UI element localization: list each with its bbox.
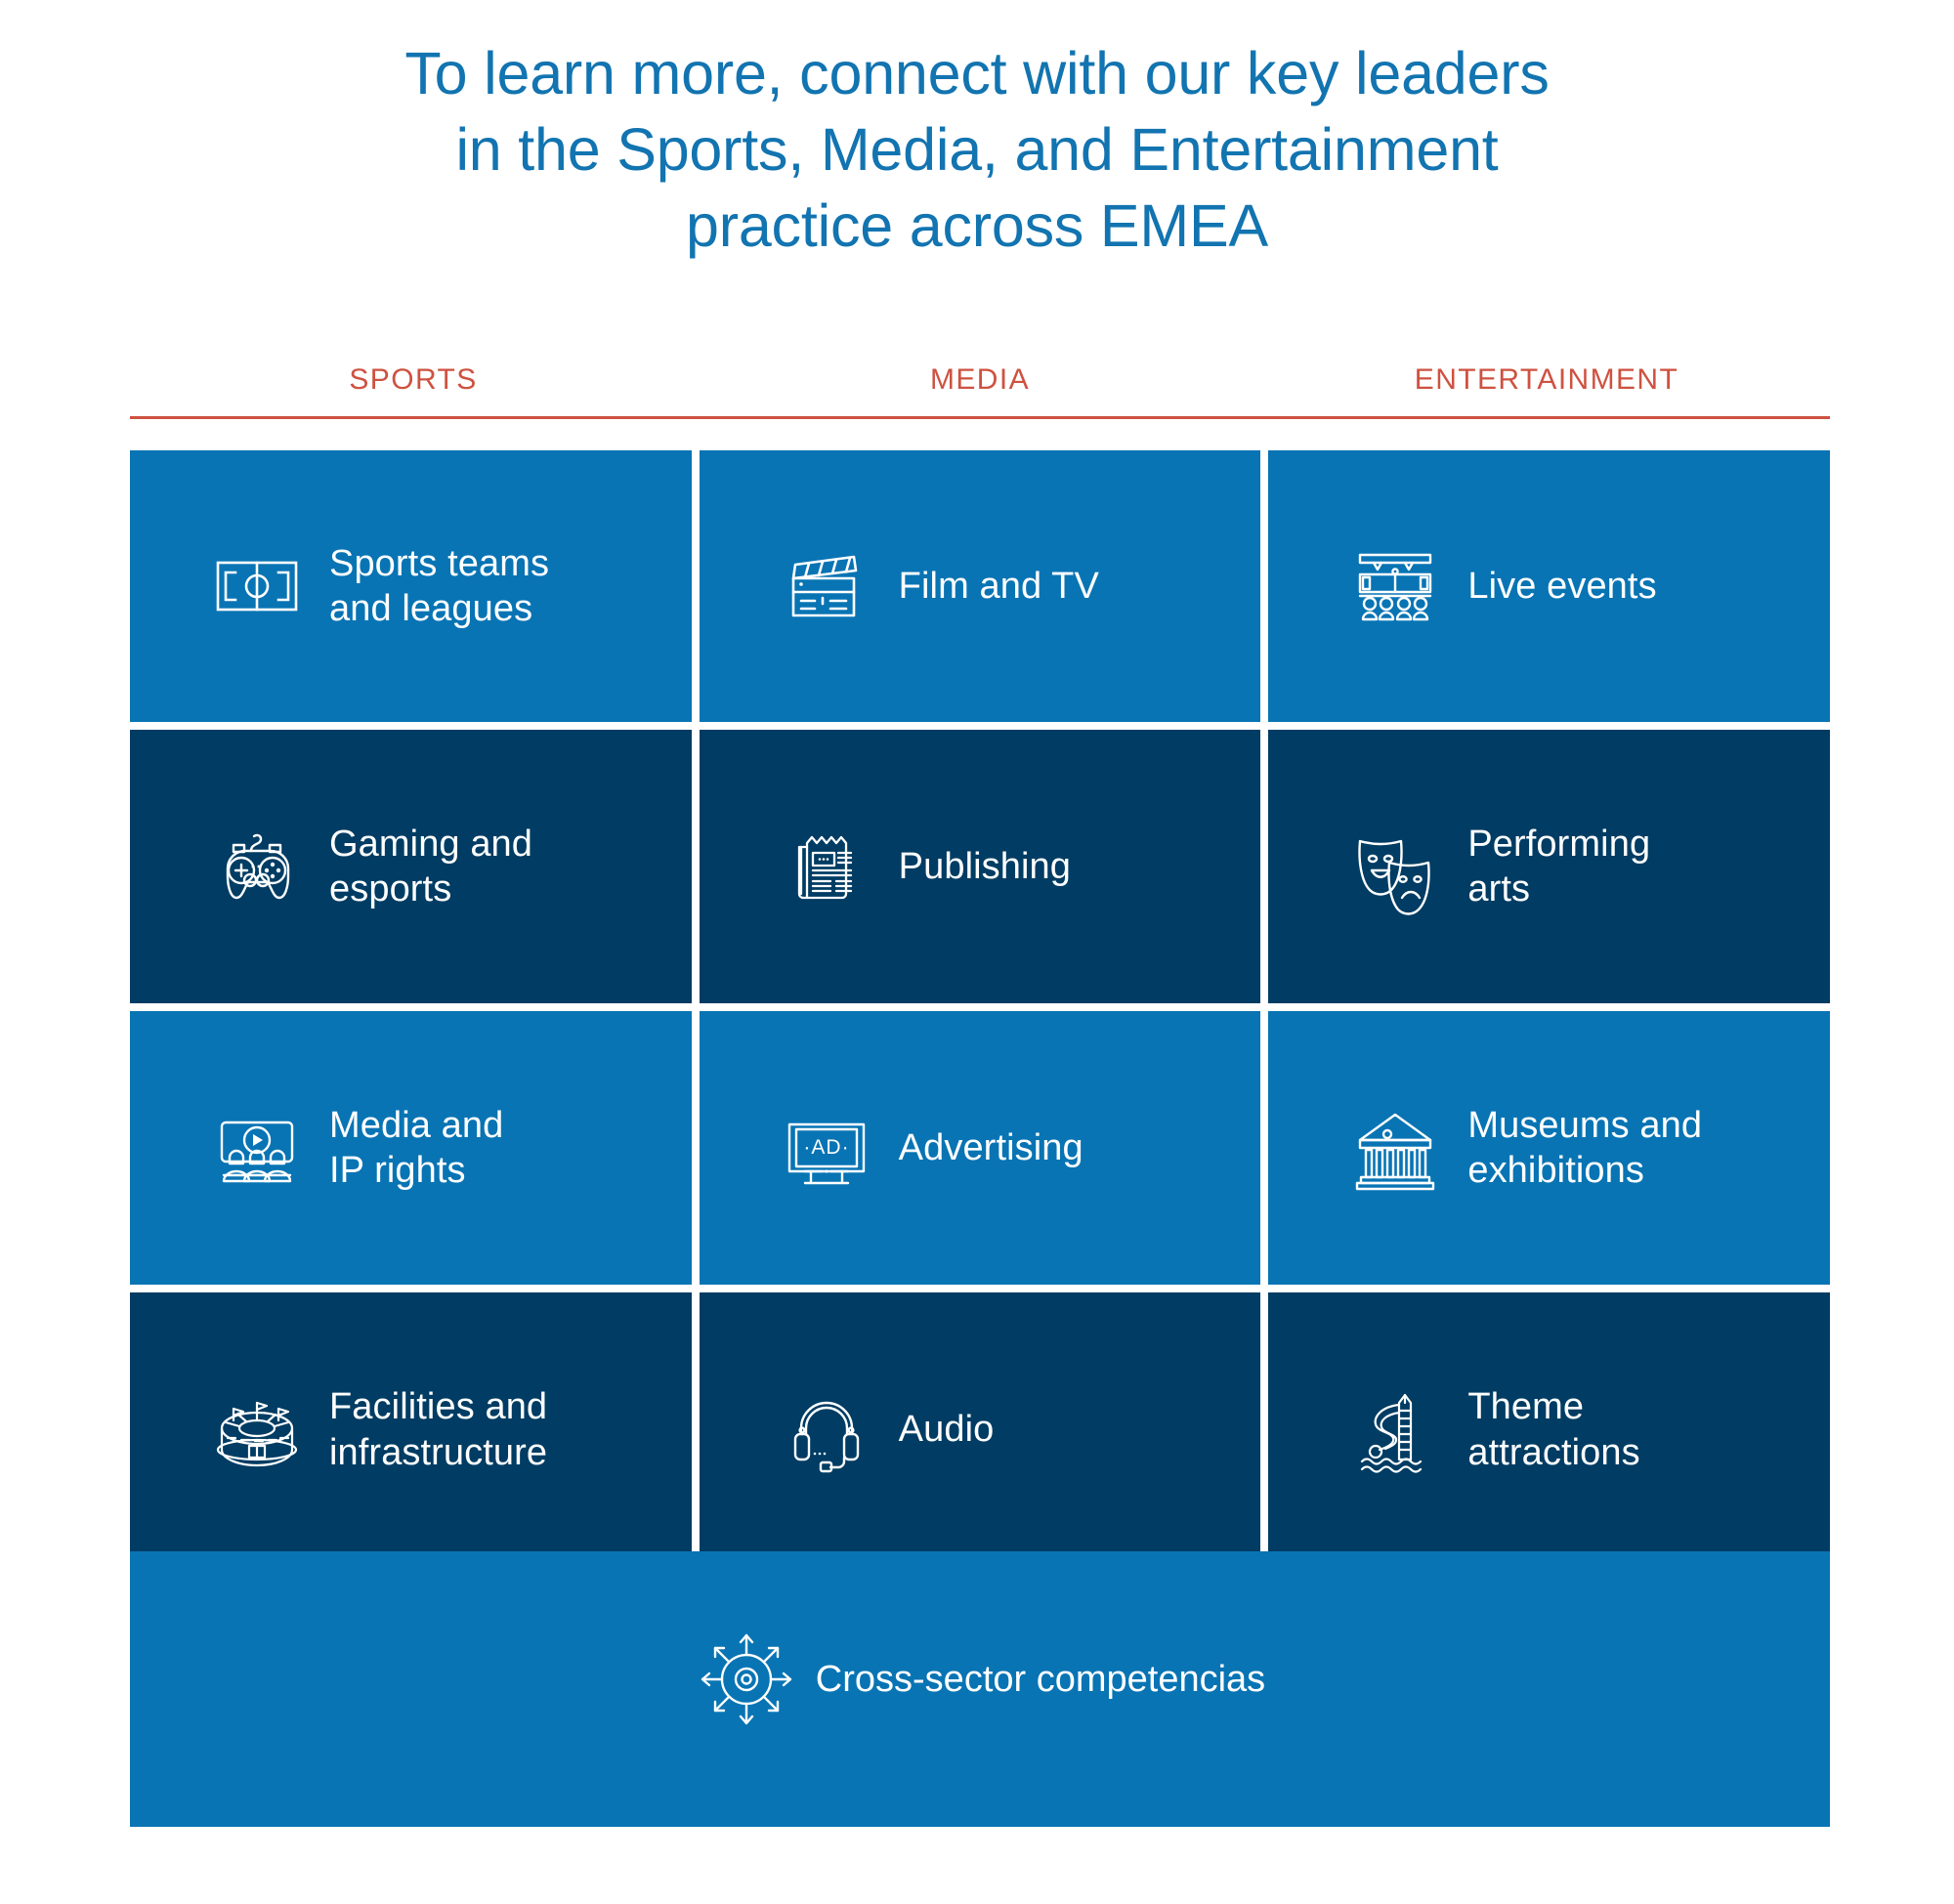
- tile-label: Gaming and esports: [329, 822, 532, 912]
- tile-facilities-and-infrastructure[interactable]: Facilities and infrastructure: [130, 1292, 692, 1567]
- grid-row: Sports teams and leagues: [130, 450, 1830, 722]
- tile-media-and-ip-rights[interactable]: Media and IP rights: [130, 1011, 692, 1285]
- tile-label: Publishing: [899, 844, 1071, 889]
- column-header-sports: SPORTS: [130, 363, 697, 397]
- tile-label: Facilities and infrastructure: [329, 1384, 547, 1475]
- footer-label: Cross-sector competencias: [816, 1659, 1265, 1701]
- screen-play-audience-icon: [206, 1097, 308, 1199]
- classical-building-icon: [1344, 1097, 1446, 1199]
- page-title-line-3: practice across EMEA: [0, 188, 1954, 264]
- tile-live-events[interactable]: Live events: [1268, 450, 1830, 722]
- footer-content: Cross-sector competencias: [695, 1628, 1265, 1731]
- grid-row: Facilities and infrastructure: [130, 1292, 1830, 1567]
- tile-label: Performing arts: [1467, 822, 1650, 912]
- tile-label: Media and IP rights: [329, 1103, 503, 1194]
- tile-label: Museums and exhibitions: [1467, 1103, 1702, 1194]
- slide-canvas: To learn more, connect with our key lead…: [0, 0, 1954, 1904]
- svg-text:·AD·: ·AD·: [803, 1136, 849, 1159]
- headset-icon: [776, 1379, 877, 1481]
- gamepad-icon: [206, 816, 308, 917]
- tile-advertising[interactable]: ·AD· Advertising: [700, 1011, 1261, 1285]
- tile-label: Advertising: [899, 1125, 1083, 1170]
- clapperboard-icon: [776, 535, 877, 637]
- tv-ad-icon: ·AD·: [776, 1097, 877, 1199]
- radiating-target-icon: [695, 1628, 798, 1731]
- tile-label: Sports teams and leagues: [329, 541, 549, 632]
- stage-audience-icon: [1344, 535, 1446, 637]
- sector-grid: Sports teams and leagues: [130, 450, 1830, 1575]
- column-header-media: MEDIA: [697, 363, 1263, 397]
- tile-theme-attractions[interactable]: Theme attractions: [1268, 1292, 1830, 1567]
- column-headers: SPORTS MEDIA ENTERTAINMENT: [130, 363, 1830, 397]
- stadium-icon: [206, 1379, 308, 1481]
- grid-row: Gaming and esports: [130, 730, 1830, 1003]
- tile-sports-teams-and-leagues[interactable]: Sports teams and leagues: [130, 450, 692, 722]
- page-title-line-2: in the Sports, Media, and Entertainment: [0, 111, 1954, 188]
- tile-label: Audio: [899, 1407, 995, 1452]
- grid-row: Media and IP rights ·AD·: [130, 1011, 1830, 1285]
- tile-audio[interactable]: Audio: [700, 1292, 1261, 1567]
- column-header-entertainment: ENTERTAINMENT: [1263, 363, 1830, 397]
- page-title-line-1: To learn more, connect with our key lead…: [0, 35, 1954, 111]
- water-slide-icon: [1344, 1379, 1446, 1481]
- tile-label: Live events: [1467, 564, 1656, 609]
- tile-publishing[interactable]: Publishing: [700, 730, 1261, 1003]
- page-title: To learn more, connect with our key lead…: [0, 35, 1954, 264]
- tile-film-and-tv[interactable]: Film and TV: [700, 450, 1261, 722]
- tile-label: Film and TV: [899, 564, 1099, 609]
- tile-gaming-and-esports[interactable]: Gaming and esports: [130, 730, 692, 1003]
- tile-label: Theme attractions: [1467, 1384, 1639, 1475]
- header-divider-rule: [130, 416, 1830, 419]
- soccer-pitch-icon: [206, 535, 308, 637]
- tile-museums-and-exhibitions[interactable]: Museums and exhibitions: [1268, 1011, 1830, 1285]
- theater-masks-icon: [1344, 816, 1446, 917]
- newspaper-icon: [776, 816, 877, 917]
- tile-cross-sector-competencias[interactable]: Cross-sector competencias: [130, 1551, 1830, 1827]
- tile-performing-arts[interactable]: Performing arts: [1268, 730, 1830, 1003]
